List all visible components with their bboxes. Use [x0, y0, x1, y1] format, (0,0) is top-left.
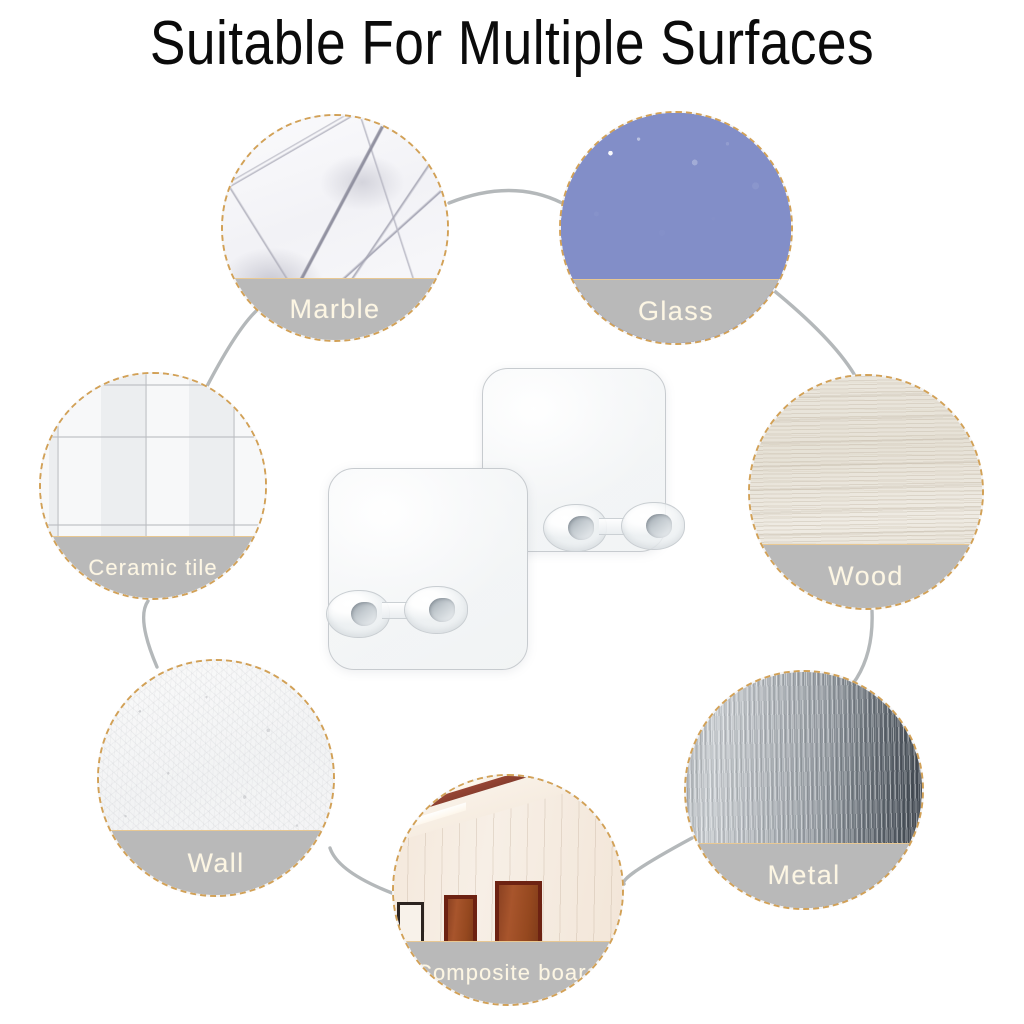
surface-circle-marble[interactable]: Marble [221, 114, 449, 342]
surface-label-band-metal: Metal [684, 843, 924, 910]
hook-nub [543, 504, 607, 552]
surface-circle-wood[interactable]: Wood [748, 374, 984, 610]
surface-label-marble: Marble [290, 294, 381, 325]
surface-label-band-glass: Glass [559, 279, 793, 345]
surface-label-band-composite-board: Composite board [392, 941, 624, 1006]
infographic-page: Suitable For Multiple Surfaces Marble Gl… [0, 0, 1024, 1024]
hook-nub [621, 502, 685, 550]
surface-label-glass: Glass [638, 296, 714, 327]
surface-label-band-marble: Marble [221, 278, 449, 342]
surface-label-wood: Wood [828, 561, 904, 592]
hook-nub [404, 586, 468, 634]
surface-circle-composite-board[interactable]: Composite board [392, 774, 624, 1006]
connector-marble-glass [449, 191, 562, 204]
surface-label-metal: Metal [767, 860, 840, 891]
product-image-adhesive-hooks [300, 360, 630, 710]
connector-metal-composite [624, 838, 692, 884]
surface-label-composite-board: Composite board [416, 960, 600, 986]
surface-circle-glass[interactable]: Glass [559, 111, 793, 345]
surface-circle-ceramic-tile[interactable]: Ceramic tile [39, 372, 267, 600]
hook-nubs-front [326, 584, 486, 640]
surface-label-band-wall: Wall [97, 830, 335, 897]
hook-nub [326, 590, 390, 638]
surface-circle-metal[interactable]: Metal [684, 670, 924, 910]
surface-label-band-ceramic-tile: Ceramic tile [39, 536, 267, 600]
hook-nubs-back [543, 502, 693, 552]
surface-label-wall: Wall [187, 848, 244, 879]
connector-composite-wall [330, 848, 392, 893]
surface-label-ceramic-tile: Ceramic tile [88, 555, 217, 581]
connector-wall-tile [144, 601, 157, 667]
surface-label-band-wood: Wood [748, 544, 984, 610]
